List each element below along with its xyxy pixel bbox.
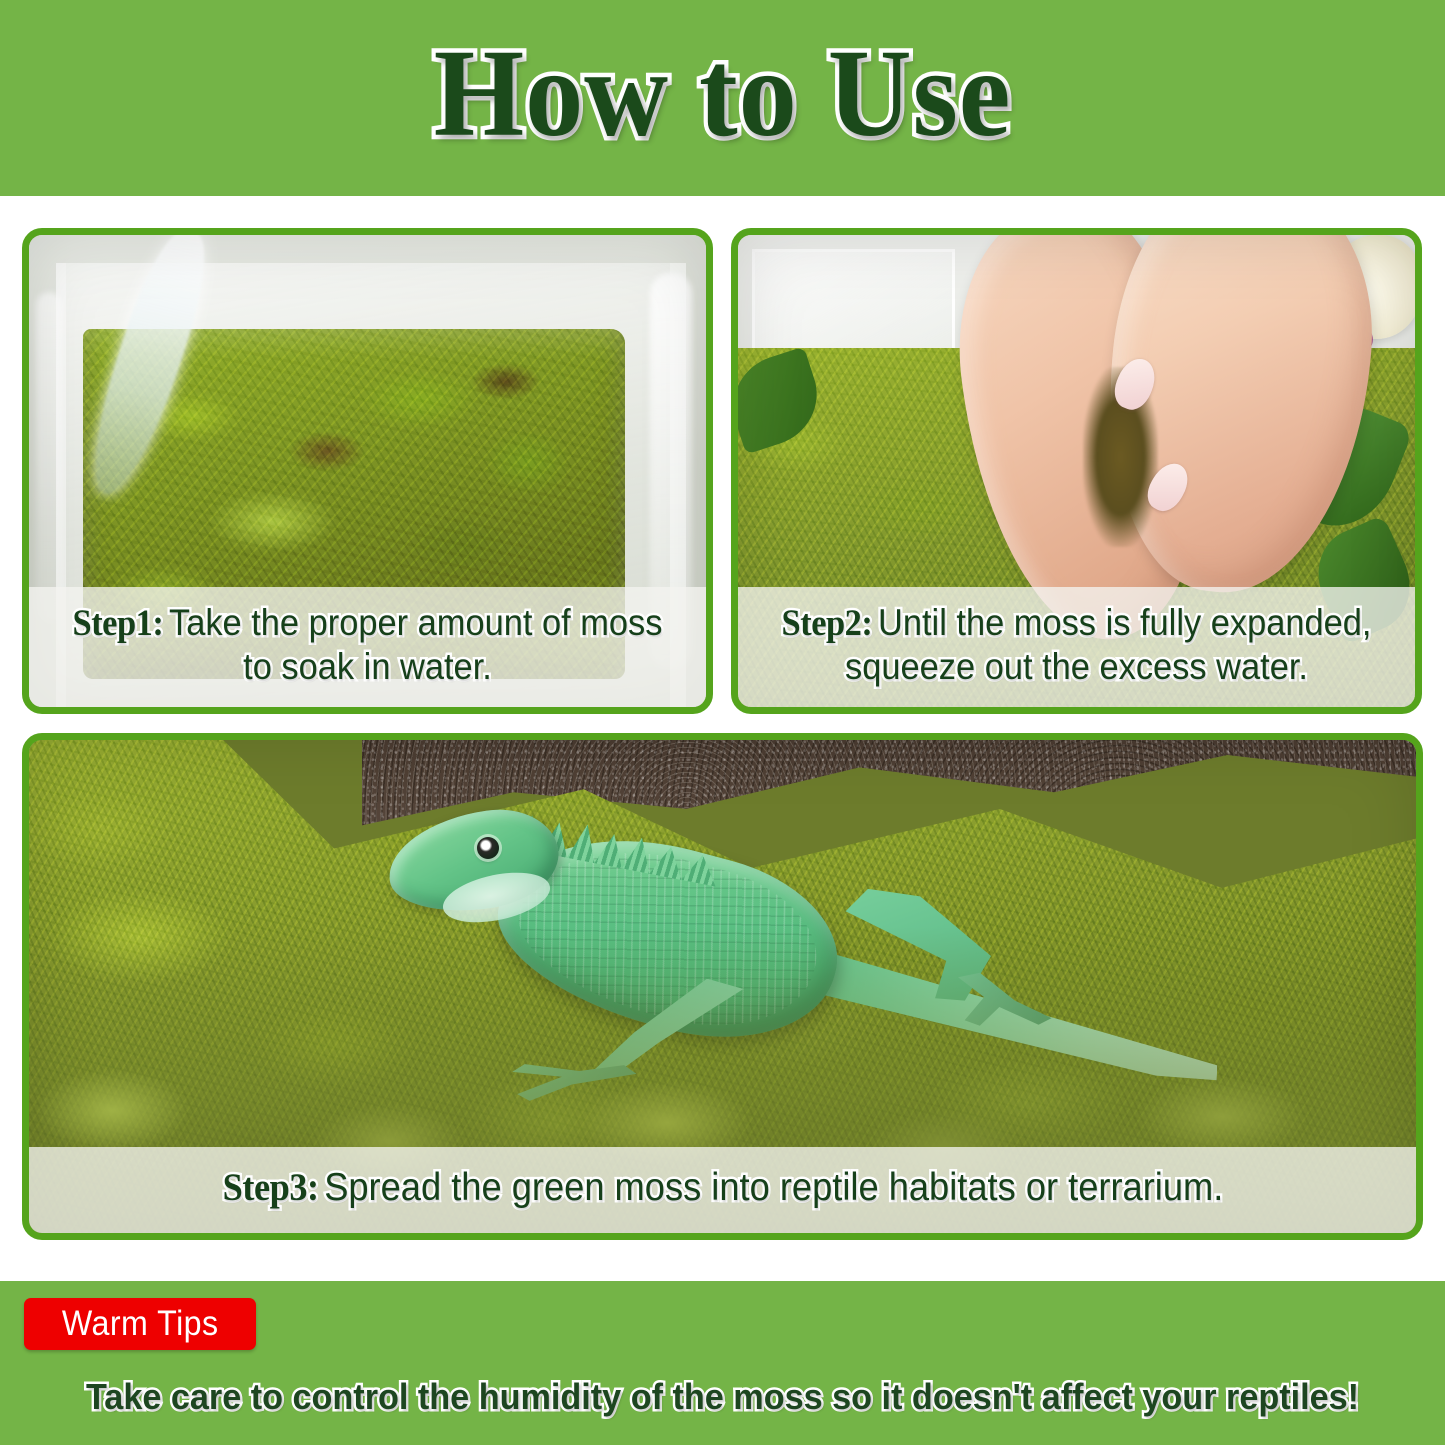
step-1-text: Take the proper amount of moss to soak i…	[169, 602, 662, 688]
step-3-caption-text: Step3:Spread the green moss into reptile…	[222, 1165, 1223, 1211]
step-3-label: Step3:	[222, 1166, 318, 1209]
step-1-caption-text: Step1:Take the proper amount of moss to …	[68, 601, 668, 689]
step-3-text: Spread the green moss into reptile habit…	[324, 1166, 1223, 1209]
infographic-page: How to Use Step1:Take the proper amount …	[0, 0, 1445, 1445]
header-banner: How to Use	[0, 0, 1445, 196]
steps-grid: Step1:Take the proper amount of moss to …	[22, 228, 1423, 1240]
step-2-label: Step2:	[782, 603, 873, 644]
warm-tips-badge: Warm Tips	[24, 1298, 256, 1350]
steps-row-top: Step1:Take the proper amount of moss to …	[22, 228, 1423, 714]
step-1-label: Step1:	[73, 603, 164, 644]
step-3-caption: Step3:Spread the green moss into reptile…	[29, 1147, 1416, 1233]
page-title: How to Use	[434, 32, 1012, 165]
step-2-text: Until the moss is fully expanded, squeez…	[845, 602, 1371, 688]
step-2-caption: Step2:Until the moss is fully expanded, …	[738, 587, 1415, 707]
step-card-1: Step1:Take the proper amount of moss to …	[22, 228, 713, 714]
warm-tips-band: Warm Tips Take care to control the humid…	[0, 1281, 1445, 1445]
warm-tips-text: Take care to control the humidity of the…	[36, 1376, 1409, 1418]
warm-tips-badge-label: Warm Tips	[62, 1304, 219, 1344]
step-2-caption-text: Step2:Until the moss is fully expanded, …	[777, 601, 1377, 689]
step-1-caption: Step1:Take the proper amount of moss to …	[29, 587, 706, 707]
step-card-2: Step2:Until the moss is fully expanded, …	[731, 228, 1422, 714]
step-card-3: Step3:Spread the green moss into reptile…	[22, 733, 1423, 1240]
tub-left-highlight	[36, 292, 62, 622]
